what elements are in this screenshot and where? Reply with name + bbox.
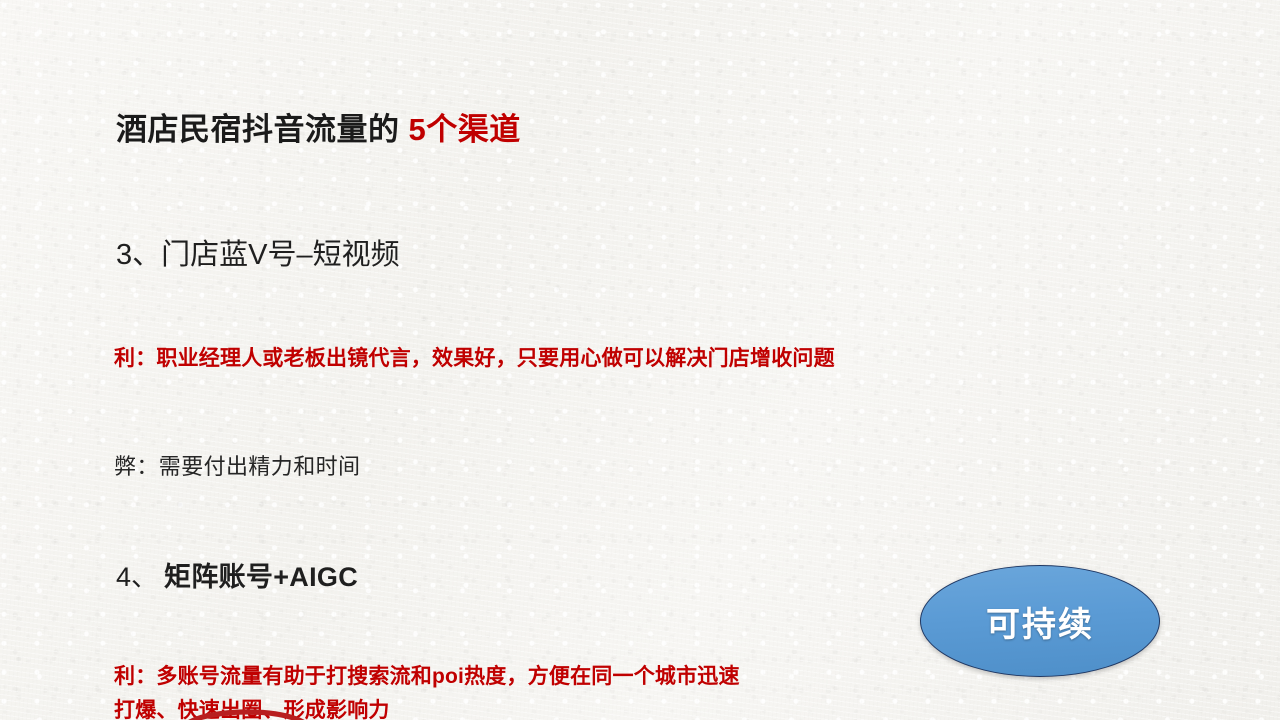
section-4-number: 4、 — [116, 562, 158, 592]
section-3-con-text: 弊：需要付出精力和时间 — [114, 449, 1280, 481]
page-title: 酒店民宿抖音流量的5个渠道 — [116, 104, 1280, 149]
slide-canvas: 酒店民宿抖音流量的5个渠道 3、门店蓝V号–短视频 利：职业经理人或老板出镜代言… — [0, 0, 1280, 720]
callout-ellipse-sustainable: 可持续 — [920, 565, 1160, 677]
section-4-pro-text: 利：多账号流量有助于打搜索流和poi热度，方便在同一个城市迅速打爆、快速出圈、形… — [114, 660, 754, 720]
section-3-heading: 3、门店蓝V号–短视频 — [116, 231, 1280, 273]
page-title-main: 酒店民宿抖音流量的 — [116, 112, 400, 147]
page-title-accent: 5个渠道 — [409, 112, 521, 147]
section-4-title: 矩阵账号+AIGC — [164, 562, 358, 592]
callout-label-sustainable: 可持续 — [986, 597, 1094, 646]
section-3-pro-text: 利：职业经理人或老板出镜代言，效果好，只要用心做可以解决门店增收问题 — [114, 342, 914, 376]
